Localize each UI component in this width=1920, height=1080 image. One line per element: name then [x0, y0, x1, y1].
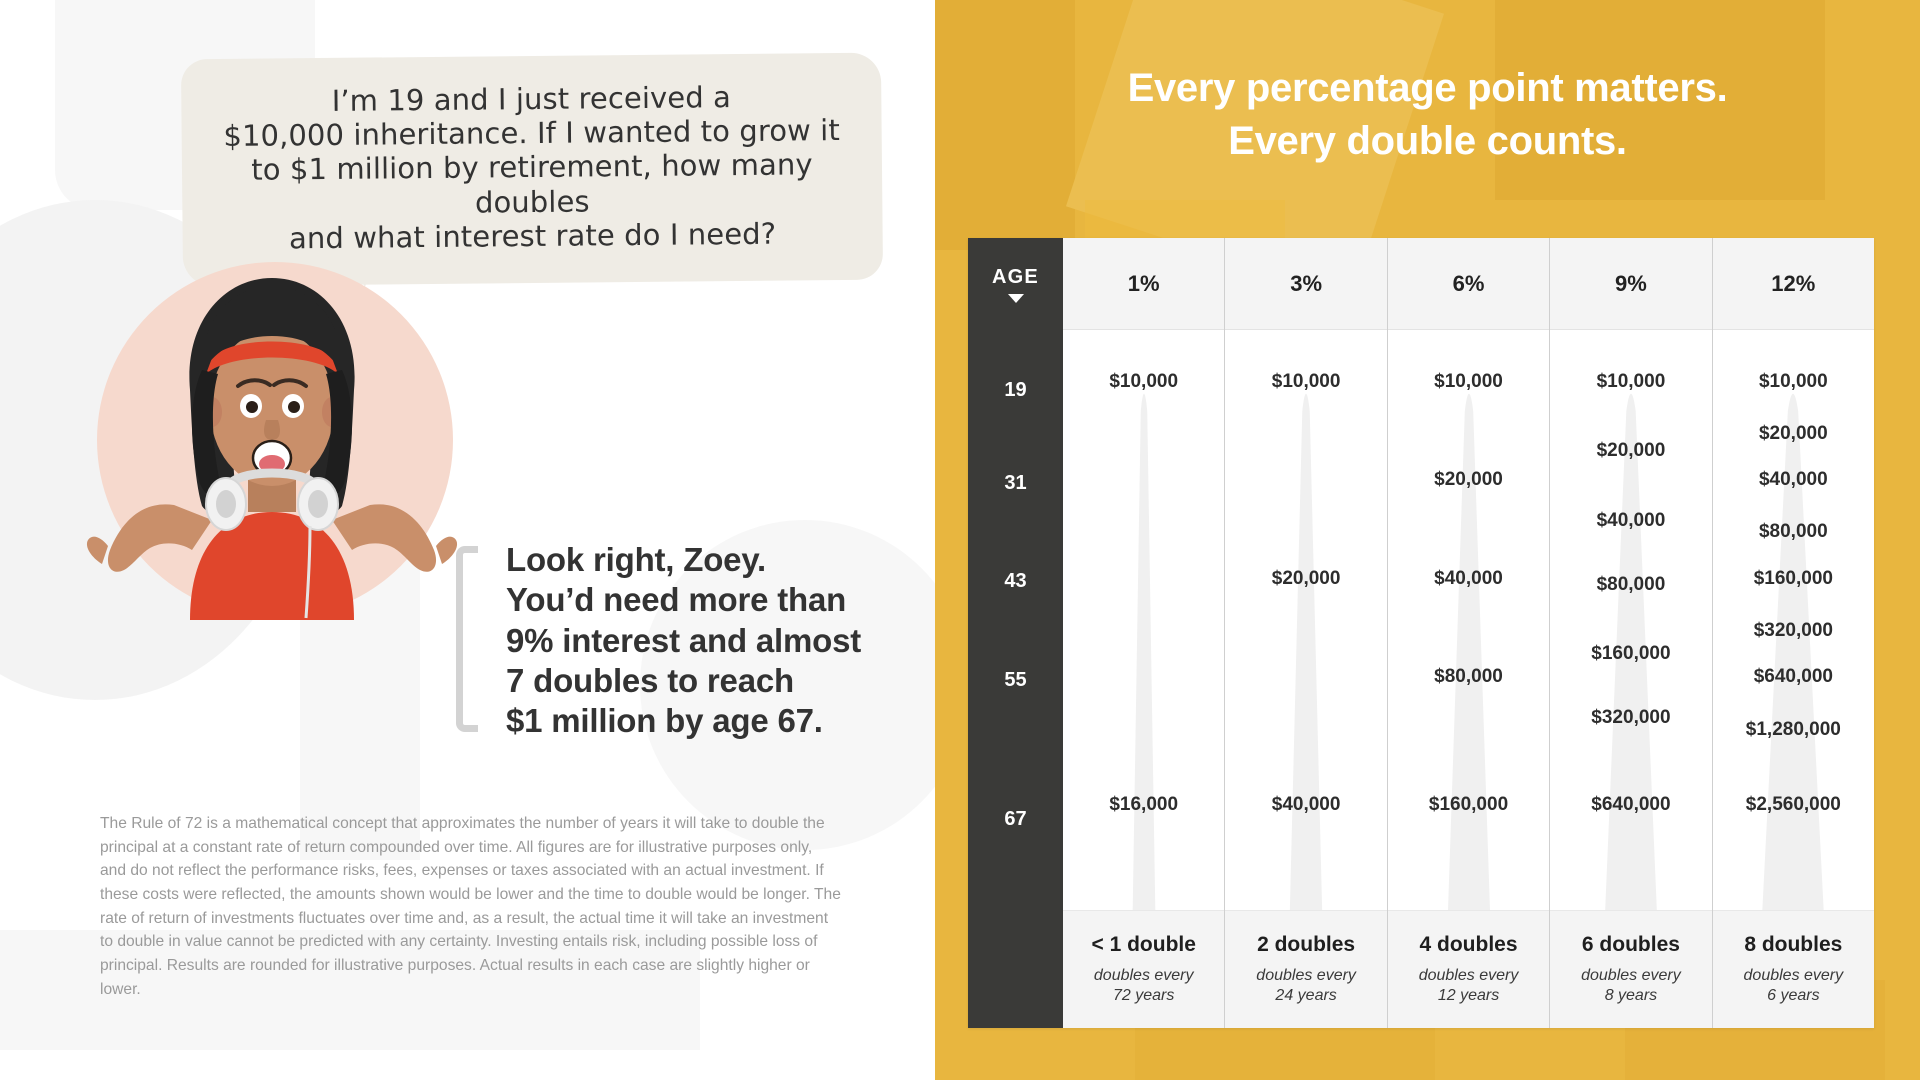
table-cell-value: $80,000: [1388, 666, 1549, 688]
quote-line-5: $1 million by age 67.: [506, 701, 861, 741]
table-cell-value: $40,000: [1713, 469, 1874, 491]
rate-column: 12%$10,000$20,000$40,000$80,000$160,000$…: [1713, 238, 1874, 1028]
table-cell-value: $40,000: [1388, 568, 1549, 590]
rate-column-body: $10,000$16,000: [1063, 330, 1224, 910]
age-column-footer: [968, 910, 1063, 1028]
rate-column-body: $10,000$20,000$40,000$80,000$160,000: [1388, 330, 1549, 910]
table-cell-value: $16,000: [1063, 794, 1224, 816]
rate-column: 1%$10,000$16,000< 1 doubledoubles every7…: [1063, 238, 1225, 1028]
left-panel: I’m 19 and I just received a $10,000 inh…: [0, 0, 935, 1080]
rate-column-header: 3%: [1225, 238, 1386, 330]
rate-column: 9%$10,000$20,000$40,000$80,000$160,000$3…: [1550, 238, 1712, 1028]
doubles-count-label: 2 doubles: [1257, 933, 1355, 957]
age-column-header: AGE: [968, 238, 1063, 330]
quote-line-2: You’d need more than: [506, 580, 861, 620]
quote-bracket-icon: [456, 546, 478, 732]
rate-column-footer: 8 doublesdoubles every6 years: [1713, 910, 1874, 1028]
table-cell-value: $1,280,000: [1713, 719, 1874, 741]
table-cell-value: $160,000: [1550, 643, 1711, 665]
growth-cone-shape: [1550, 330, 1711, 910]
quote-line-4: 7 doubles to reach: [506, 661, 861, 701]
rate-column-footer: 6 doublesdoubles every8 years: [1550, 910, 1711, 1028]
doubles-period-label: doubles every12 years: [1419, 966, 1519, 1006]
table-cell-value: $80,000: [1713, 521, 1874, 543]
doubles-period-label: doubles every8 years: [1581, 966, 1681, 1006]
rate-column-header: 6%: [1388, 238, 1549, 330]
quote-line-1: Look right, Zoey.: [506, 540, 861, 580]
age-row-label: 67: [968, 806, 1063, 834]
table-cell-value: $640,000: [1550, 794, 1711, 816]
age-column: AGE 1931435567: [968, 238, 1063, 1028]
table-cell-value: $160,000: [1388, 794, 1549, 816]
right-headline: Every percentage point matters. Every do…: [935, 62, 1920, 168]
table-cell-value: $20,000: [1713, 423, 1874, 445]
doubles-period-label: doubles every24 years: [1256, 966, 1356, 1006]
speech-bubble-line-3: to $1 million by retirement, how many do…: [216, 147, 849, 222]
rate-column-body: $10,000$20,000$40,000$80,000$160,000$320…: [1550, 330, 1711, 910]
rate-column: 3%$10,000$20,000$40,0002 doublesdoubles …: [1225, 238, 1387, 1028]
pull-quote: Look right, Zoey. You’d need more than 9…: [456, 540, 876, 741]
age-header-label: AGE: [992, 266, 1039, 289]
table-cell-value: $20,000: [1225, 568, 1386, 590]
rate-column-footer: 4 doublesdoubles every12 years: [1388, 910, 1549, 1028]
table-cell-value: $320,000: [1713, 620, 1874, 642]
infographic-root: I’m 19 and I just received a $10,000 inh…: [0, 0, 1920, 1080]
doubles-period-label: doubles every72 years: [1094, 966, 1194, 1006]
chevron-down-icon: [1008, 294, 1024, 303]
table-cell-value: $10,000: [1713, 371, 1874, 393]
table-cell-value: $10,000: [1063, 371, 1224, 393]
table-cell-value: $20,000: [1550, 440, 1711, 462]
doubles-count-label: 6 doubles: [1582, 933, 1680, 957]
rate-column-body: $10,000$20,000$40,000$80,000$160,000$320…: [1713, 330, 1874, 910]
rate-column: 6%$10,000$20,000$40,000$80,000$160,0004 …: [1388, 238, 1550, 1028]
headline-line-1: Every percentage point matters.: [935, 62, 1920, 115]
doubles-period-label: doubles every6 years: [1744, 966, 1844, 1006]
quote-text: Look right, Zoey. You’d need more than 9…: [506, 540, 861, 741]
growth-cone-shape: [1388, 330, 1549, 910]
table-cell-value: $10,000: [1225, 371, 1386, 393]
table-cell-value: $40,000: [1225, 794, 1386, 816]
quote-line-3: 9% interest and almost: [506, 621, 861, 661]
table-cell-value: $320,000: [1550, 707, 1711, 729]
age-row-label: 55: [968, 666, 1063, 694]
doubles-count-label: 4 doubles: [1420, 933, 1518, 957]
table-cell-value: $20,000: [1388, 469, 1549, 491]
table-cell-value: $10,000: [1550, 371, 1711, 393]
age-row-label: 31: [968, 469, 1063, 497]
headline-line-2: Every double counts.: [935, 115, 1920, 168]
rate-column-footer: 2 doublesdoubles every24 years: [1225, 910, 1386, 1028]
rate-column-header: 9%: [1550, 238, 1711, 330]
rate-column-footer: < 1 doubledoubles every72 years: [1063, 910, 1224, 1028]
doubles-count-label: < 1 double: [1091, 933, 1195, 957]
character-illustration: [62, 250, 482, 620]
growth-cone-shape: [1063, 330, 1224, 910]
rate-column-header: 12%: [1713, 238, 1874, 330]
table-cell-value: $80,000: [1550, 574, 1711, 596]
table-cell-value: $10,000: [1388, 371, 1549, 393]
table-cell-value: $160,000: [1713, 568, 1874, 590]
table-cell-value: $2,560,000: [1713, 794, 1874, 816]
table-cell-value: $40,000: [1550, 510, 1711, 532]
right-panel: Every percentage point matters. Every do…: [935, 0, 1920, 1080]
age-row-label: 43: [968, 568, 1063, 596]
rule-of-72-table: AGE 1931435567 1%$10,000$16,000< 1 doubl…: [968, 238, 1874, 1028]
rate-column-header: 1%: [1063, 238, 1224, 330]
rate-column-body: $10,000$20,000$40,000: [1225, 330, 1386, 910]
growth-cone-shape: [1225, 330, 1386, 910]
doubles-count-label: 8 doubles: [1744, 933, 1842, 957]
table-cell-value: $640,000: [1713, 666, 1874, 688]
disclaimer-text: The Rule of 72 is a mathematical concept…: [100, 812, 842, 1002]
age-row-label: 19: [968, 376, 1063, 404]
